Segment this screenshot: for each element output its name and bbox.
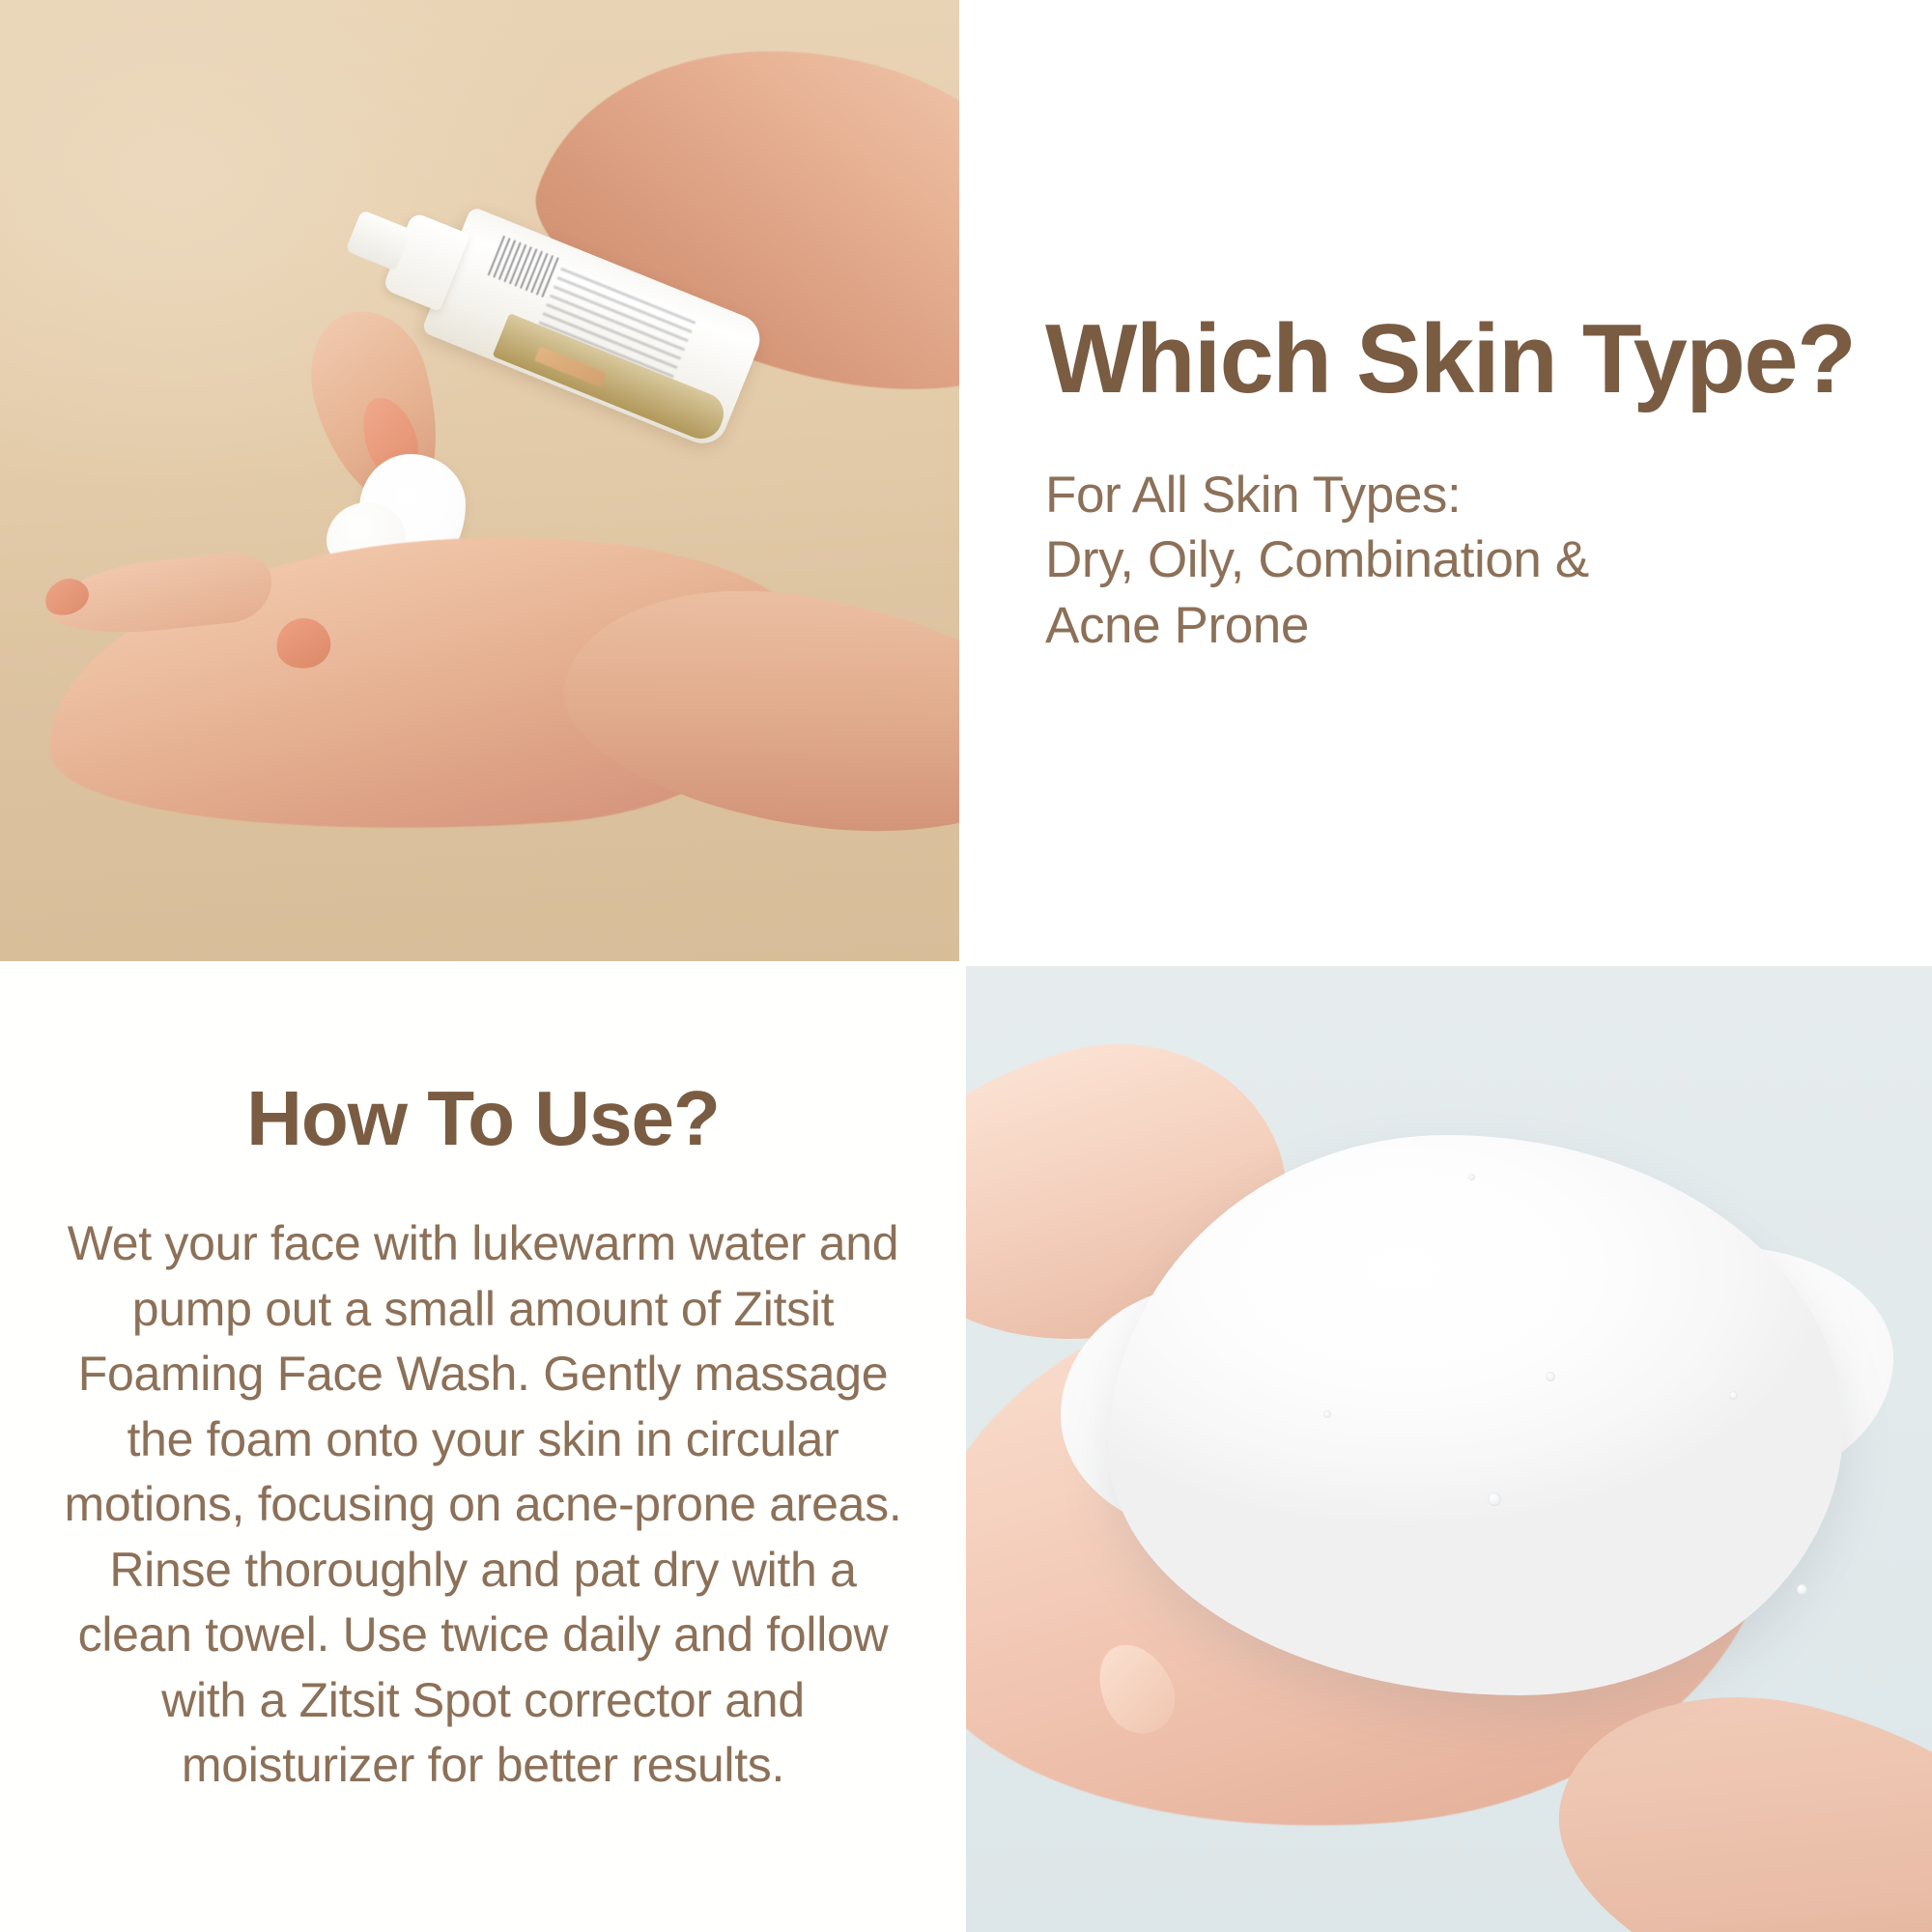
skin-type-line-3: Acne Prone [1045,593,1932,658]
how-to-use-panel: How To Use? Wet your face with lukewarm … [0,966,966,1932]
skin-type-list: For All Skin Types: Dry, Oily, Combinati… [1045,463,1932,658]
skin-type-title: Which Skin Type? [1045,308,1932,411]
foam-bubble-1 [1488,1492,1501,1506]
product-infographic: Which Skin Type? For All Skin Types: Dry… [0,0,1932,1932]
foam-bubble-2 [1546,1372,1555,1381]
how-to-use-body: Wet your face with lukewarm water and pu… [48,1211,918,1799]
skin-type-panel: Which Skin Type? For All Skin Types: Dry… [966,0,1932,966]
foam-bubble-5 [1797,1584,1807,1595]
how-to-use-title: How To Use? [246,1080,720,1157]
foam-photo [966,966,1932,1932]
skin-type-line-2: Dry, Oily, Combination & [1045,527,1932,592]
foam-bubble-4 [1323,1410,1331,1418]
skin-type-line-1: For All Skin Types: [1045,463,1932,527]
foam-bubble-6 [1468,1174,1475,1180]
product-photo [0,0,959,961]
foam-bubble-3 [1729,1391,1738,1400]
